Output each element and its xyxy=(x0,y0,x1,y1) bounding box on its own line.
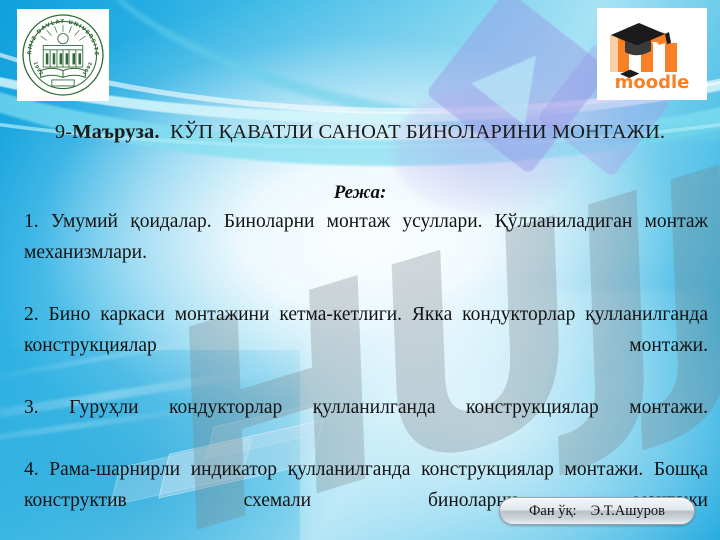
plan-item-number: 4. xyxy=(24,454,39,485)
teacher-badge-label: Фан ўқ: xyxy=(529,503,577,520)
plan-item-text: Бино каркаси монтажини кетма-кетлиги. Як… xyxy=(24,304,708,356)
plan-list-item: 1. Умумий қоидалар. Биноларни монтаж усу… xyxy=(24,206,708,299)
plan-list-item: 3. Гуруҳли кондукторлар қулланилганда ко… xyxy=(24,392,708,454)
moodle-logo: moodle xyxy=(597,8,707,100)
presentation-slide: HUJJAT xyxy=(0,0,720,540)
slide-title: 9-Маъруза. КЎП ҚАВАТЛИ САНОАТ БИНОЛАРИНИ… xyxy=(30,120,690,145)
plan-item-number: 3. xyxy=(24,392,39,423)
title-main-text: КЎП ҚАВАТЛИ САНОАТ БИНОЛАРИНИ МОНТАЖИ. xyxy=(170,121,665,143)
university-logo: TERMIZ DAVLAT UNIVERSITETI 1992 1992 xyxy=(17,9,109,101)
teacher-badge: Фан ўқ: Э.Т.Ашуров xyxy=(499,497,695,525)
plan-item-text: Умумий қоидалар. Биноларни монтаж усулла… xyxy=(24,211,708,263)
plan-item-number: 2. xyxy=(24,299,39,330)
plan-list-item: 2. Бино каркаси монтажини кетма-кетлиги.… xyxy=(24,299,708,392)
university-seal-icon: TERMIZ DAVLAT UNIVERSITETI 1992 1992 xyxy=(20,12,106,98)
plan-list: 1. Умумий қоидалар. Биноларни монтаж усу… xyxy=(24,206,708,540)
plan-item-text: Гуруҳли кондукторлар қулланилганда конст… xyxy=(69,397,708,418)
plan-item-number: 1. xyxy=(24,206,39,237)
moodle-logo-icon: moodle xyxy=(602,12,702,96)
svg-text:moodle: moodle xyxy=(615,72,690,93)
teacher-badge-name: Э.Т.Ашуров xyxy=(591,503,665,520)
plan-heading: Режа: xyxy=(30,182,690,204)
lecture-number: 9- xyxy=(55,121,72,143)
lecture-word: Маъруза. xyxy=(72,121,159,143)
